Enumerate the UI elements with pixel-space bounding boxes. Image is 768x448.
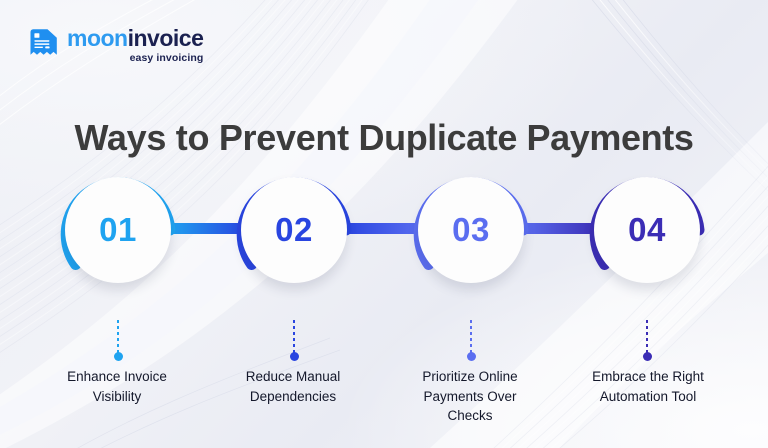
step-number-02: 02 bbox=[232, 168, 356, 292]
page-title-regular: Ways to Prevent bbox=[75, 117, 359, 158]
step-caption-03: Prioritize Online Payments Over Checks bbox=[381, 367, 559, 426]
stem-line-01 bbox=[117, 320, 119, 354]
stem-line-04 bbox=[646, 320, 648, 354]
step-number-01: 01 bbox=[56, 168, 180, 292]
caption-line: Embrace the Right bbox=[557, 367, 739, 387]
page-title: Ways to Prevent Duplicate Payments bbox=[0, 120, 768, 156]
brand-name-part2: invoice bbox=[128, 25, 204, 51]
caption-line: Checks bbox=[381, 406, 559, 426]
stem-dot-01 bbox=[114, 352, 123, 361]
step-node-04[interactable]: 04 bbox=[585, 168, 709, 292]
caption-line: Prioritize Online bbox=[381, 367, 559, 387]
caption-line: Visibility bbox=[28, 387, 206, 407]
caption-line: Payments Over bbox=[381, 387, 559, 407]
steps-timeline: 01 02 03 04 bbox=[0, 168, 768, 328]
step-number-03: 03 bbox=[409, 168, 533, 292]
step-number-04: 04 bbox=[585, 168, 709, 292]
stem-line-02 bbox=[293, 320, 295, 354]
invoice-document-icon bbox=[29, 28, 59, 60]
page-title-emphasis: Duplicate Payments bbox=[359, 117, 694, 158]
brand-name-part1: moon bbox=[67, 25, 128, 51]
caption-line: Dependencies bbox=[204, 387, 382, 407]
brand-logo[interactable]: mooninvoice easy invoicing bbox=[29, 27, 203, 64]
step-node-02[interactable]: 02 bbox=[232, 168, 356, 292]
stem-line-03 bbox=[470, 320, 472, 354]
caption-line: Automation Tool bbox=[557, 387, 739, 407]
brand-tagline: easy invoicing bbox=[67, 53, 203, 64]
step-node-03[interactable]: 03 bbox=[409, 168, 533, 292]
step-caption-01: Enhance Invoice Visibility bbox=[28, 367, 206, 406]
stem-dot-03 bbox=[467, 352, 476, 361]
caption-line: Enhance Invoice bbox=[28, 367, 206, 387]
stem-dot-04 bbox=[643, 352, 652, 361]
stem-dot-02 bbox=[290, 352, 299, 361]
step-caption-04: Embrace the Right Automation Tool bbox=[557, 367, 739, 406]
step-caption-02: Reduce Manual Dependencies bbox=[204, 367, 382, 406]
step-node-01[interactable]: 01 bbox=[56, 168, 180, 292]
brand-wordmark: mooninvoice easy invoicing bbox=[67, 27, 203, 64]
caption-line: Reduce Manual bbox=[204, 367, 382, 387]
